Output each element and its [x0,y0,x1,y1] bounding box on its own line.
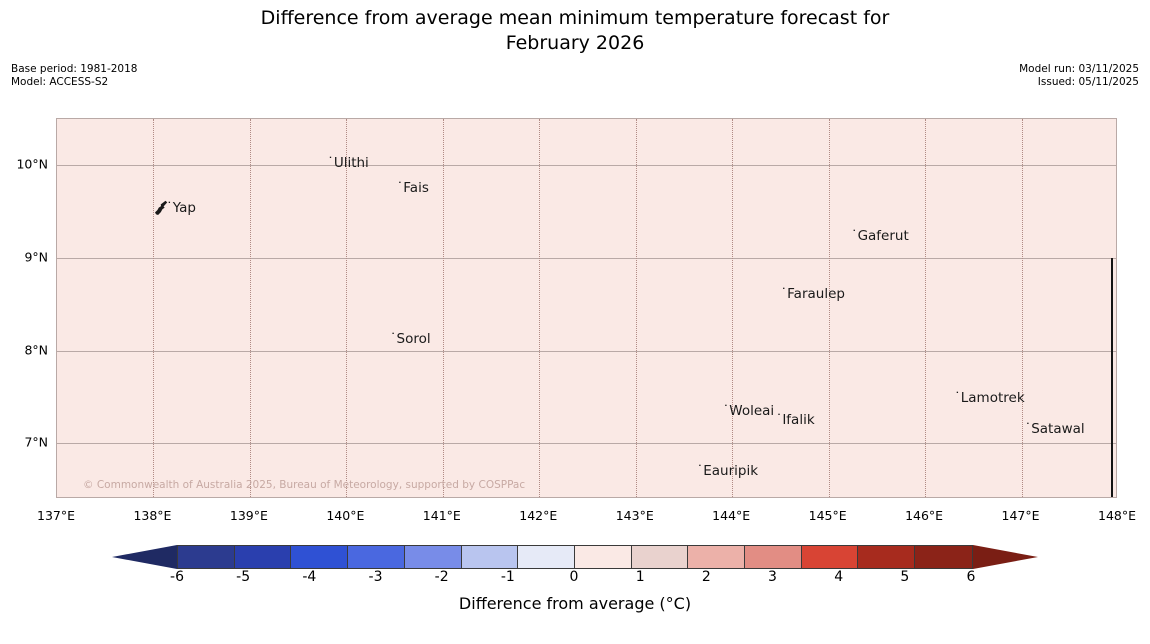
gridline-lon-147 [1022,119,1023,497]
place-label-lamotrek: ˙Lamotrek [954,392,1025,406]
y-tick-label: 7°N [24,435,48,450]
colorbar-tick-label: 5 [900,569,909,585]
colorbar-body [177,545,973,569]
x-tick-label: 146°E [905,508,943,523]
colorbar-tick-label: 3 [768,569,777,585]
colorbar-segment-7 [575,546,632,568]
place-label-woleai: ˙Woleai [723,405,775,419]
gridline-lat-10 [57,165,1116,166]
gridline-lon-142 [539,119,540,497]
place-marker-dot: ˙ [390,331,397,347]
colorbar-tick-label: -1 [501,569,515,585]
colorbar-segment-6 [518,546,575,568]
y-tick: 10°N [48,157,80,172]
colorbar-tick-label: 6 [967,569,976,585]
gridline-lon-144 [732,119,733,497]
x-tick-label: 148°E [1098,508,1136,523]
place-name: Faraulep [787,286,845,302]
colorbar-segment-3 [348,546,405,568]
place-name: Fais [403,180,429,196]
place-name: Yap [173,200,196,216]
copyright-text: © Commonwealth of Australia 2025, Bureau… [83,479,525,491]
place-label-ifalik: ˙Ifalik [776,414,815,428]
place-marker-dot: ˙ [166,200,173,216]
colorbar-segment-13 [915,546,972,568]
model-run-text: Model run: 03/11/2025 [1019,63,1139,76]
colorbar-label: Difference from average (°C) [0,594,1150,613]
metadata-right: Model run: 03/11/2025 Issued: 05/11/2025 [1019,63,1139,89]
model-text: Model: ACCESS-S2 [11,76,137,89]
colorbar-tick-label: -4 [302,569,316,585]
colorbar-tick-label: -6 [170,569,184,585]
colorbar-tick-label: -2 [435,569,449,585]
y-tick-label: 10°N [16,157,48,172]
colorbar-segment-2 [291,546,348,568]
gridline-lon-143 [636,119,637,497]
x-tick-label: 142°E [519,508,557,523]
colorbar-tick-label: 4 [834,569,843,585]
place-label-yap: ˙Yap [166,202,196,216]
gridline-lat-7 [57,443,1116,444]
y-tick-label: 8°N [24,342,48,357]
colorbar-segment-12 [858,546,915,568]
colorbar-segment-10 [745,546,802,568]
x-tick-label: 138°E [133,508,171,523]
y-tick-label: 9°N [24,250,48,265]
colorbar-segment-4 [405,546,462,568]
colorbar-tick-label: -5 [236,569,250,585]
metadata-left: Base period: 1981-2018 Model: ACCESS-S2 [11,63,137,89]
colorbar-segment-5 [462,546,519,568]
colorbar-segment-9 [688,546,745,568]
x-tick-label: 139°E [230,508,268,523]
page-title: Difference from average mean minimum tem… [0,6,1150,56]
gridline-lat-8 [57,351,1116,352]
x-tick-label: 141°E [423,508,461,523]
place-marker-dot: ˙ [851,228,858,244]
colorbar-segment-0 [178,546,235,568]
place-name: Ulithi [334,155,369,171]
place-name: Lamotrek [961,390,1025,406]
colorbar-tick-label: 2 [702,569,711,585]
colorbar-tick-label: 1 [636,569,645,585]
colorbar-segment-8 [632,546,689,568]
x-tick-label: 145°E [809,508,847,523]
map-panel[interactable]: ˙Yap˙Ulithi˙Fais˙Sorol˙Gaferut˙Faraulep˙… [56,118,1117,498]
y-tick: 8°N [48,342,72,357]
place-name: Woleai [729,403,774,419]
base-period-text: Base period: 1981-2018 [11,63,137,76]
colorbar-segment-11 [802,546,859,568]
place-name: Satawal [1031,421,1084,437]
gridline-lon-140 [346,119,347,497]
gridline-lon-139 [250,119,251,497]
gridline-lon-141 [443,119,444,497]
place-label-fais: ˙Fais [397,182,429,196]
x-tick-label: 137°E [37,508,75,523]
x-tick-label: 144°E [712,508,750,523]
place-marker-dot: ˙ [954,390,961,406]
gridline-lon-138 [153,119,154,497]
colorbar-under-arrow [112,545,177,569]
place-label-gaferut: ˙Gaferut [851,230,909,244]
place-name: Eauripik [703,463,758,479]
x-tick-label: 143°E [616,508,654,523]
gridline-lon-145 [829,119,830,497]
place-marker-dot: ˙ [327,155,334,171]
place-label-ulithi: ˙Ulithi [327,157,369,171]
gridline-lat-9 [57,258,1116,259]
boundary-line [1111,258,1113,498]
x-tick-label: 140°E [326,508,364,523]
y-tick: 7°N [48,435,72,450]
place-name: Ifalik [782,412,814,428]
place-label-satawal: ˙Satawal [1024,423,1084,437]
issued-text: Issued: 05/11/2025 [1019,76,1139,89]
place-label-faraulep: ˙Faraulep [780,288,845,302]
y-tick: 9°N [48,250,72,265]
place-name: Gaferut [858,228,909,244]
colorbar-segment-1 [235,546,292,568]
colorbar-over-arrow [973,545,1038,569]
place-name: Sorol [397,331,431,347]
colorbar-tick-label: 0 [570,569,579,585]
colorbar-tick-label: -3 [369,569,383,585]
place-label-eauripik: ˙Eauripik [696,465,758,479]
gridline-lon-146 [925,119,926,497]
place-label-sorol: ˙Sorol [390,333,431,347]
x-tick-label: 147°E [1002,508,1040,523]
